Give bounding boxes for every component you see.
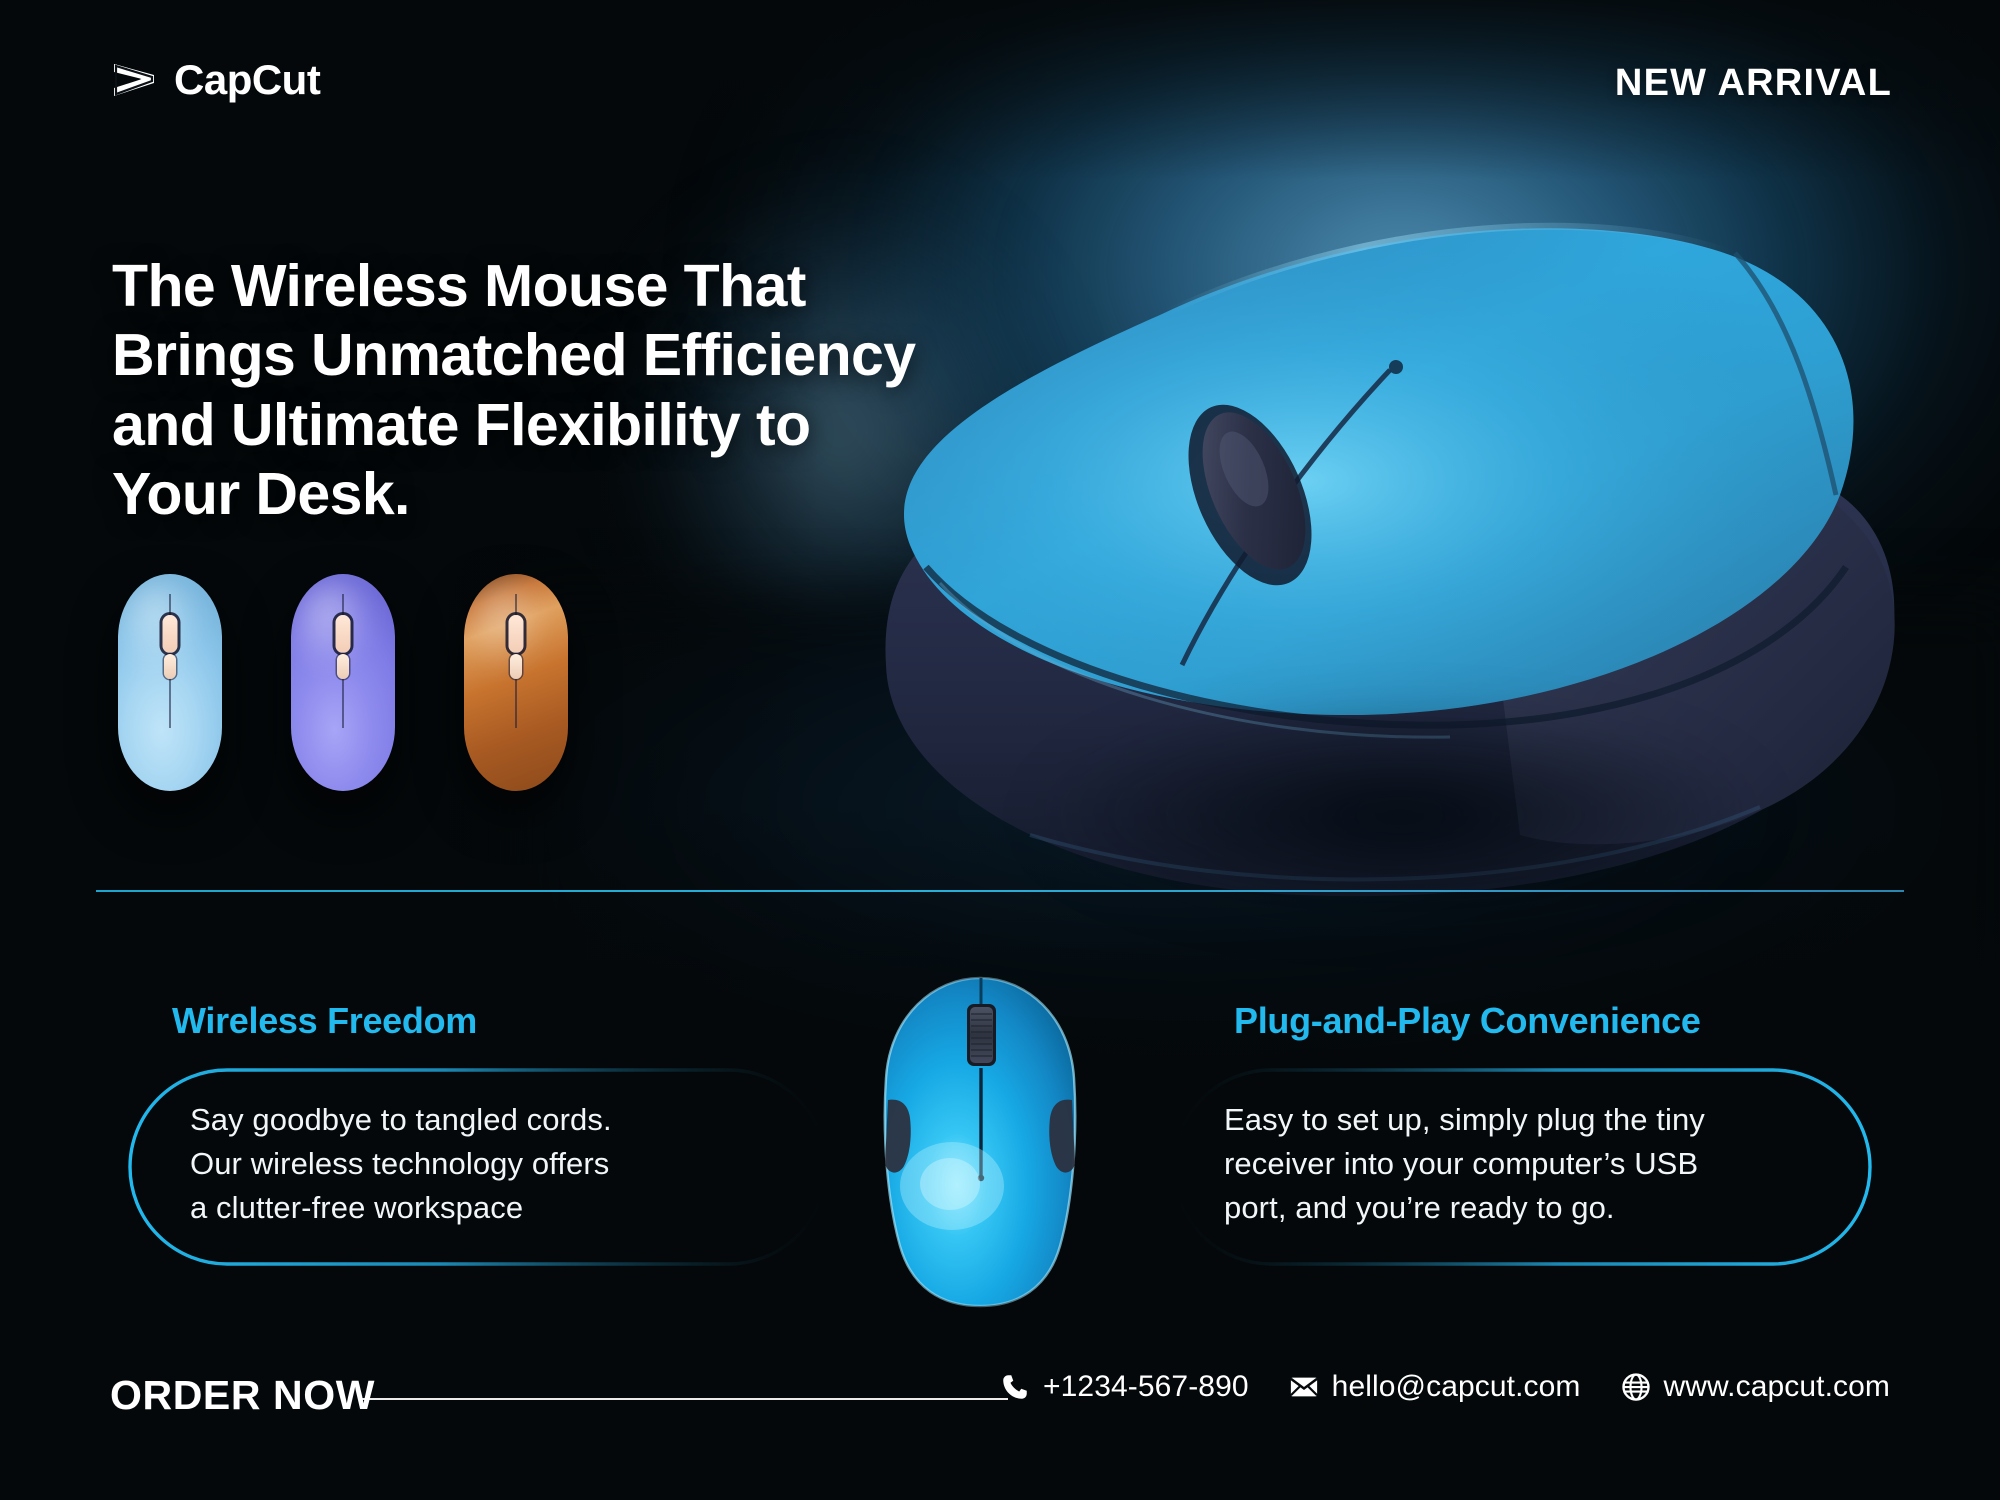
promo-banner: CapCut NEW ARRIVAL The Wireless Mouse Th… <box>0 0 2000 1500</box>
swatch-scroll-wheel <box>336 615 351 653</box>
feature-card: Say goodbye to tangled cords. Our wirele… <box>128 1068 828 1266</box>
feature-plug-and-play: Plug-and-Play Convenience Easy to set up… <box>1172 1000 1872 1266</box>
feature-title: Plug-and-Play Convenience <box>1172 1000 1872 1042</box>
center-product-image <box>874 972 1086 1312</box>
feature-wireless-freedom: Wireless Freedom Say goodbye to tangled … <box>128 1000 828 1266</box>
swatch-scroll-wheel <box>163 615 178 653</box>
headline-line-1: The Wireless Mouse That <box>112 253 806 319</box>
swatch-dpi-button <box>164 654 176 679</box>
contact-email[interactable]: hello@capcut.com <box>1289 1370 1581 1404</box>
contact-website[interactable]: www.capcut.com <box>1621 1370 1890 1404</box>
brand-logo-text: CapCut <box>174 59 320 101</box>
feature-body: Easy to set up, simply plug the tiny rec… <box>1224 1098 1810 1230</box>
phone-icon <box>1000 1372 1030 1402</box>
swatch-dpi-button <box>510 654 522 679</box>
contact-email-value: hello@capcut.com <box>1332 1370 1581 1404</box>
contact-list: +1234-567-890 hello@capcut.com <box>1000 1370 1890 1404</box>
color-swatch-copper-orange[interactable] <box>464 574 568 791</box>
headline-line-2: Brings Unmatched Efficiency <box>112 322 915 388</box>
section-divider <box>96 890 1904 892</box>
color-swatch-list <box>118 574 568 791</box>
center-mouse-illustration <box>874 972 1086 1312</box>
feature-body: Say goodbye to tangled cords. Our wirele… <box>190 1098 776 1230</box>
brand-logo[interactable]: CapCut <box>110 58 320 102</box>
globe-icon <box>1621 1372 1651 1402</box>
contact-phone[interactable]: +1234-567-890 <box>1000 1370 1249 1404</box>
feature-card: Easy to set up, simply plug the tiny rec… <box>1172 1068 1872 1266</box>
feature-title: Wireless Freedom <box>128 1000 828 1042</box>
capcut-logo-icon <box>110 58 158 102</box>
page-title: The Wireless Mouse That Brings Unmatched… <box>112 252 1012 530</box>
swatch-dpi-button <box>337 654 349 679</box>
color-swatch-light-blue[interactable] <box>118 574 222 791</box>
hero-product-shadow <box>890 665 1910 965</box>
headline-line-3: and Ultimate Flexibility to <box>112 392 810 458</box>
color-swatch-periwinkle-purple[interactable] <box>291 574 395 791</box>
footer: ORDER NOW +1234-567-890 hello@capcut.com <box>0 1310 2000 1500</box>
headline-line-4: Your Desk. <box>112 461 410 527</box>
new-arrival-badge: NEW ARRIVAL <box>1615 62 1892 105</box>
order-now-cta[interactable]: ORDER NOW <box>110 1372 375 1419</box>
swatch-scroll-wheel <box>509 615 524 653</box>
header: CapCut NEW ARRIVAL <box>0 0 2000 170</box>
order-now-rule <box>358 1398 1008 1400</box>
email-icon <box>1289 1372 1319 1402</box>
contact-website-value: www.capcut.com <box>1664 1370 1890 1404</box>
contact-phone-value: +1234-567-890 <box>1043 1370 1249 1404</box>
